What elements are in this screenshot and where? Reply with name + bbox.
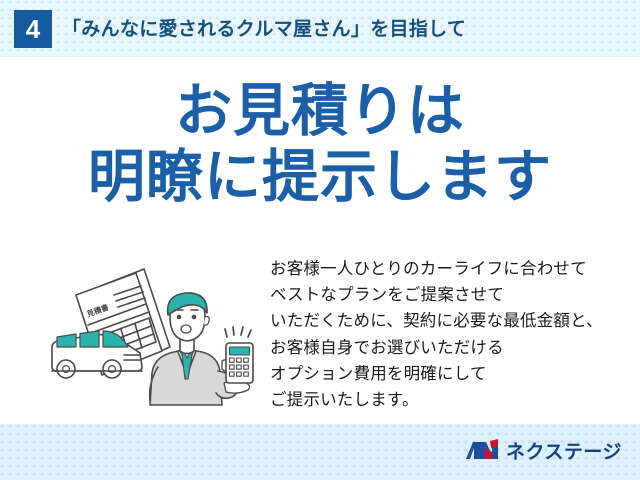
- section-number-badge: 4: [14, 10, 52, 48]
- body-line: ベストなプランをご提案させて: [270, 282, 635, 308]
- sparkle-icon: [225, 327, 251, 337]
- headline: お見積りは 明瞭に提示します: [0, 81, 640, 208]
- body-copy: お客様一人ひとりのカーライフに合わせて ベストなプランをご提案させて いただくた…: [270, 256, 635, 413]
- body-line: オプション費用を明確にして: [270, 361, 635, 387]
- promo-banner: 4 「みんなに愛されるクルマ屋さん」を目指して お見積りは 明瞭に提示します: [0, 0, 640, 480]
- illustration: 見積書: [36, 255, 266, 415]
- nextage-n-logo-icon: [466, 439, 499, 462]
- body-line: ご提示いたします。: [270, 387, 635, 413]
- footer-bar: ネクステージ: [0, 424, 640, 480]
- brand-name: ネクステージ: [506, 437, 622, 464]
- body-line: お客様一人ひとりのカーライフに合わせて: [270, 256, 635, 282]
- header-title: 「みんなに愛されるクルマ屋さん」を目指して: [62, 14, 466, 41]
- calculator: [226, 343, 253, 383]
- brand-lockup: ネクステージ: [466, 437, 622, 464]
- header-bar: 4 「みんなに愛されるクルマ屋さん」を目指して: [0, 0, 640, 57]
- body-line: お客様自身でお選びいただける: [270, 335, 635, 361]
- headline-line-1: お見積りは: [0, 81, 640, 141]
- main-content: お見積りは 明瞭に提示します 見積書: [0, 57, 640, 424]
- body-line: いただくために、契約に必要な最低金額と、: [270, 308, 635, 334]
- headline-line-2: 明瞭に提示します: [0, 147, 640, 207]
